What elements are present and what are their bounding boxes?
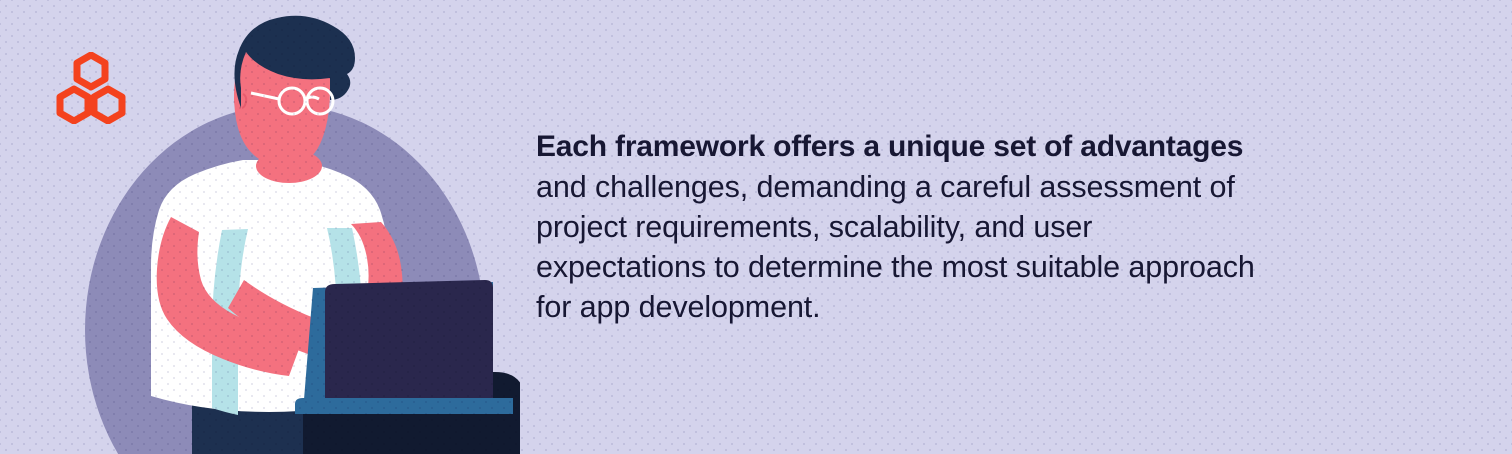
- body-line-1: and challenges, demanding a careful asse…: [536, 167, 1436, 207]
- headline-line-1: Each framework offers a unique set of ad…: [536, 127, 1436, 167]
- body-line-2: project requirements, scalability, and u…: [536, 207, 1436, 247]
- headline-text-block: Each framework offers a unique set of ad…: [536, 127, 1436, 327]
- body-line-4: for app development.: [536, 287, 1436, 327]
- banner-canvas: Each framework offers a unique set of ad…: [0, 0, 1512, 454]
- laptop-screen: [325, 280, 493, 410]
- body-line-3: expectations to determine the most suita…: [536, 247, 1436, 287]
- laptop-base-dark: [303, 414, 518, 454]
- hexagon-icon: [60, 55, 122, 121]
- hexagon-trio-logo[interactable]: [55, 52, 127, 124]
- laptop-base: [295, 398, 513, 414]
